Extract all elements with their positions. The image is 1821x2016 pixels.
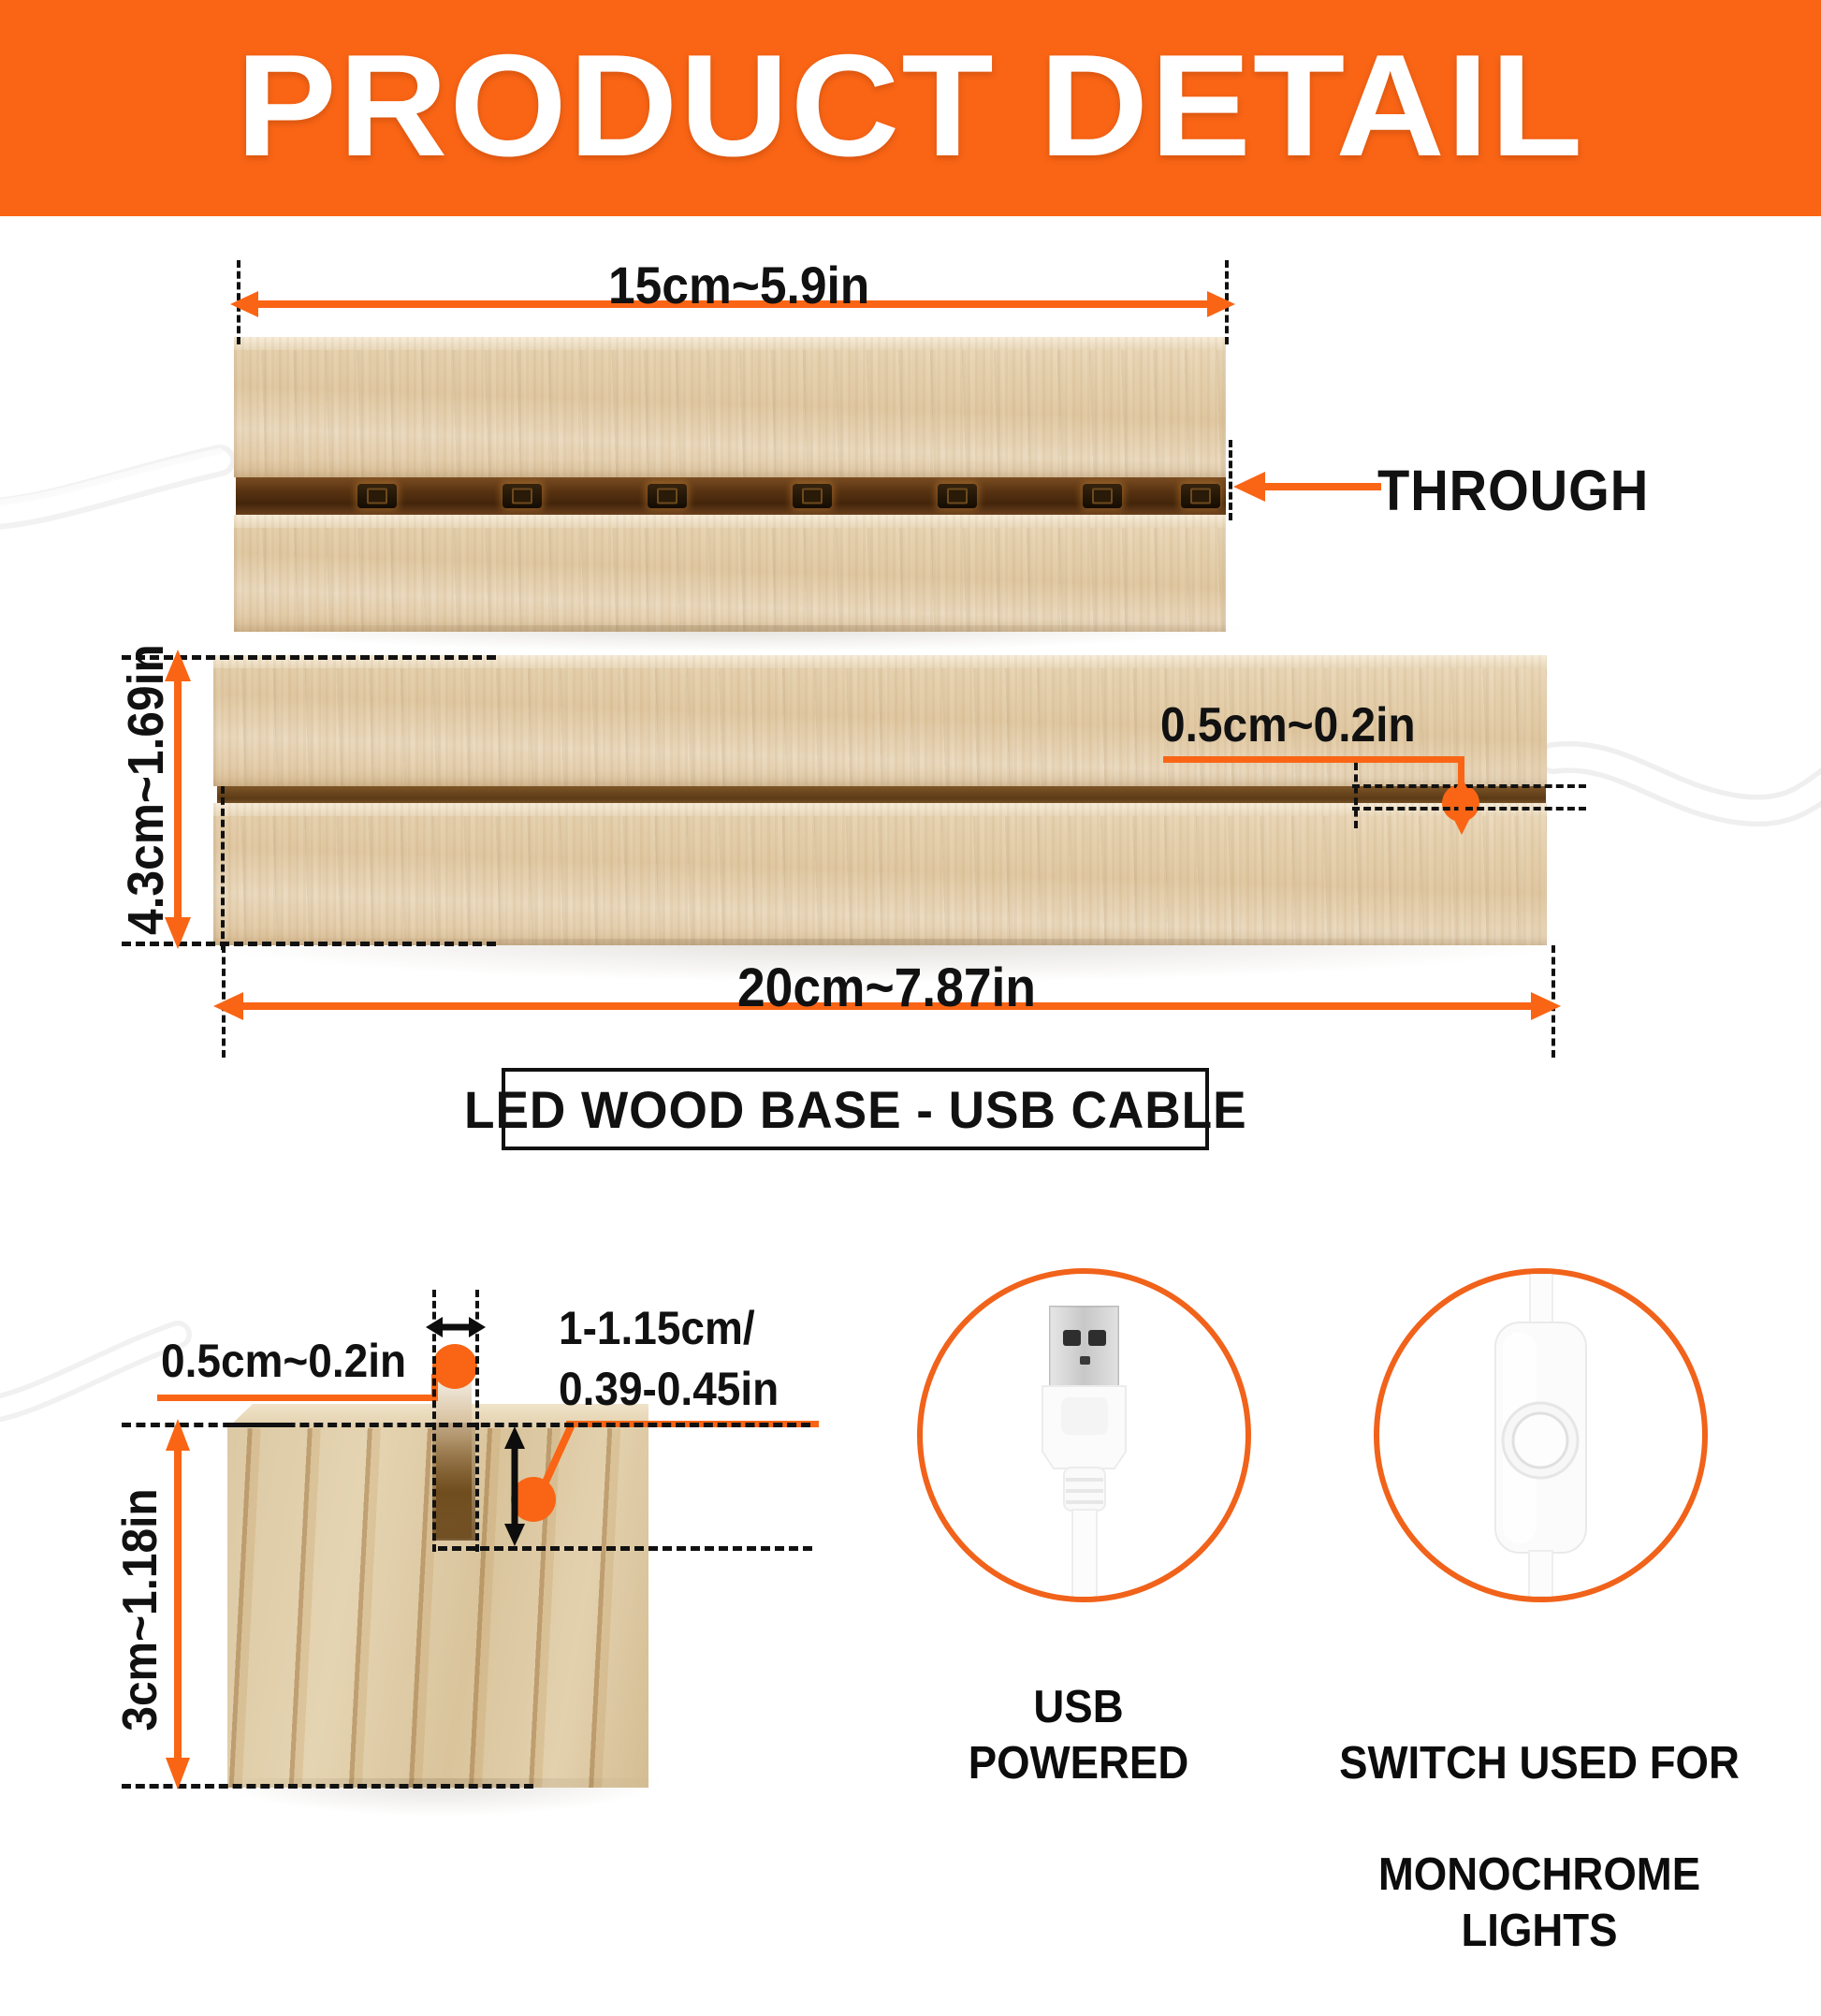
usb-feature-circle xyxy=(917,1268,1251,1602)
switch-caption-line1: SWITCH USED FOR xyxy=(1326,1736,1753,1792)
slot-width-leader xyxy=(157,1395,438,1401)
through-extension-line xyxy=(1229,440,1232,520)
inline-switch-icon xyxy=(1379,1274,1702,1597)
label-slot-width: 0.5cm~0.2in xyxy=(161,1334,406,1388)
through-arrow xyxy=(1233,468,1383,505)
gap-leader-horizontal xyxy=(1163,756,1464,763)
slot-depth-dash-bottom xyxy=(438,1546,812,1551)
wood-top-face xyxy=(213,803,1547,816)
usb-feature-caption: USB POWERED xyxy=(924,1680,1232,1792)
wood-block-top xyxy=(234,337,1226,477)
wood-top-face xyxy=(234,515,1226,528)
wood-block-bottom xyxy=(213,803,1547,945)
slot-width-arrow xyxy=(426,1313,486,1341)
switch-feature-circle xyxy=(1374,1268,1708,1602)
label-slot-depth-line1: 1-1.15cm/ xyxy=(559,1301,755,1355)
switch-caption-line2: MONOCHROME LIGHTS xyxy=(1326,1848,1753,1960)
label-width-top: 15cm~5.9in xyxy=(608,255,869,315)
endgrain-height-dash-top xyxy=(122,1423,290,1427)
label-gap-right: 0.5cm~0.2in xyxy=(1160,697,1416,753)
header-banner: PRODUCT DETAIL xyxy=(0,0,1821,216)
gap-dash-left xyxy=(1354,763,1358,828)
label-slot-depth-line2: 0.39-0.45in xyxy=(559,1362,779,1416)
second-block-shadow xyxy=(225,625,1245,651)
slot-width-dot xyxy=(432,1344,477,1389)
label-endgrain-height: 3cm~1.18in xyxy=(112,1459,168,1760)
slot-shadow xyxy=(432,1423,475,1541)
page-title: PRODUCT DETAIL xyxy=(236,33,1584,178)
slot-depth-arrow xyxy=(501,1426,529,1546)
usb-cable-right xyxy=(1525,697,1821,884)
main-caption-text: LED WOOD BASE - USB CABLE xyxy=(464,1079,1247,1140)
led-strip-slot xyxy=(236,477,1226,515)
height-extension-vert-left xyxy=(221,786,225,950)
wood-top-face xyxy=(234,337,1226,350)
main-caption-box: LED WOOD BASE - USB CABLE xyxy=(502,1068,1209,1150)
gap-arrow-vertical xyxy=(1446,777,1478,835)
switch-feature-caption: SWITCH USED FOR MONOCHROME LIGHTS xyxy=(1326,1680,1753,2016)
label-width-bottom: 20cm~7.87in xyxy=(737,957,1036,1019)
wood-block-second xyxy=(234,515,1226,632)
label-through: THROUGH xyxy=(1377,458,1649,523)
label-height-left: 4.3cm~1.69in xyxy=(117,677,175,935)
usb-connector-icon xyxy=(923,1274,1246,1597)
product-detail-page: PRODUCT DETAIL xyxy=(0,0,1821,1821)
